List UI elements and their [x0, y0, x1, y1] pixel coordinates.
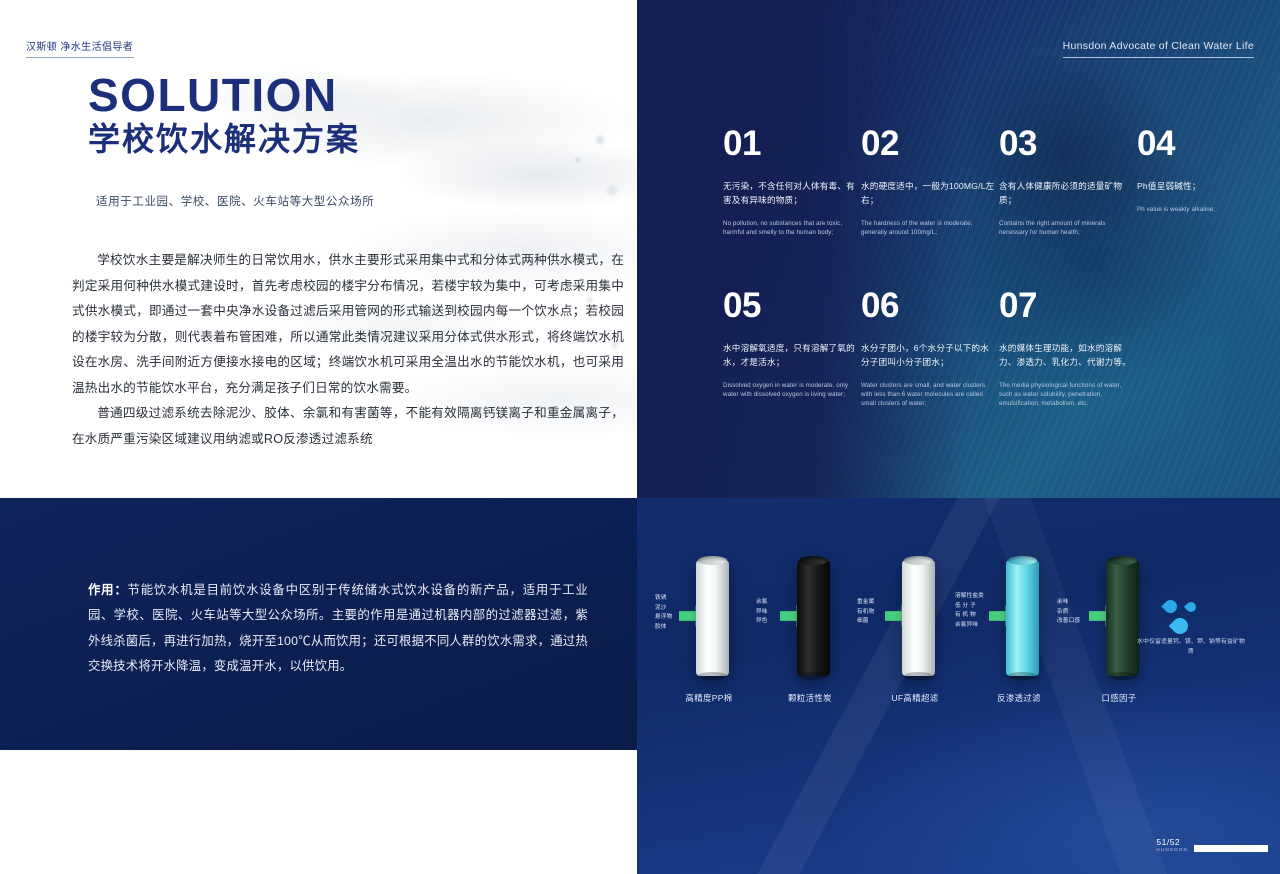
feature-number: 05	[723, 288, 858, 323]
footer-bar	[1194, 845, 1268, 852]
filter-cartridge-5	[1106, 560, 1139, 676]
stage-1-removes: 铁锈 泥沙 悬浮物 胶体	[655, 594, 677, 632]
feature-number: 06	[861, 288, 996, 323]
stage-2-removes: 余氯 异味 异色	[756, 598, 778, 627]
feature-number: 04	[1137, 126, 1272, 161]
navy-panel-label: 作用：	[88, 583, 128, 597]
filter-cartridge-2	[797, 560, 830, 676]
navy-panel-copy: 作用：节能饮水机是目前饮水设备中区别于传统储水式饮水设备的新产品，适用于工业园、…	[88, 578, 588, 680]
feature-text-cn: 无污染，不含任何对人体有毒、有害及有异味的物质；	[723, 180, 858, 208]
water-drop-icon	[1169, 615, 1192, 638]
feature-text-en: Dissolved oxygen in water is moderate, o…	[723, 381, 858, 400]
feature-text-cn: 水的媒体生理功能，如水的溶解力、渗透力、乳化力、代谢力等。	[999, 342, 1134, 370]
stage-4-label: 反渗透过滤	[974, 692, 1064, 704]
stage-5-label: 口感因子	[1074, 692, 1164, 704]
feature-item-04: 04 Ph值呈弱碱性； Ph value is weakly alkaline;	[1137, 126, 1272, 214]
feature-text-en: The hardness of the water is moderate, g…	[861, 219, 996, 238]
water-drop-icon	[1184, 600, 1198, 614]
feature-number: 07	[999, 288, 1134, 323]
water-drop-icon	[1161, 597, 1179, 615]
stage-4-removes: 溶解性盐类 低 分 子 有 机 物 余氯异味	[955, 592, 987, 630]
feature-text-en: Contains the right amount of minerals ne…	[999, 219, 1134, 238]
feature-text-cn: 水中溶解氧适度，只有溶解了氧的水，才是活水；	[723, 342, 858, 370]
page-subtitle: 适用于工业园、学校、医院、火车站等大型公众场所	[96, 193, 374, 209]
stage-3-removes: 重金属 有机物 细菌	[857, 598, 883, 627]
feature-text-en: No pollution, no substances that are tox…	[723, 219, 858, 238]
body-copy: 学校饮水主要是解决师生的日常饮用水，供水主要形式采用集中式和分体式两种供水模式，…	[72, 248, 624, 453]
bottom-left-white-strip	[0, 750, 637, 874]
feature-text-en: Ph value is weakly alkaline;	[1137, 205, 1272, 214]
features-grid: 01 无污染，不含任何对人体有毒、有害及有异味的物质； No pollution…	[637, 0, 1280, 498]
left-content-panel: 汉斯顿 净水生活倡导者 SOLUTION 学校饮水解决方案 适用于工业园、学校、…	[0, 0, 637, 498]
feature-item-06: 06 水分子团小，6个水分子以下的水分子团叫小分子团水； Water clust…	[861, 288, 996, 409]
stage-1-label: 高精度PP棉	[664, 692, 754, 704]
stage-3-label: UF高精超滤	[870, 692, 960, 704]
feature-text-en: Water clusters are small, and water clus…	[861, 381, 996, 409]
feature-number: 02	[861, 126, 996, 161]
feature-item-03: 03 含有人体健康所必须的适量矿物质； Contains the right a…	[999, 126, 1134, 237]
filter-diagram-panel: 铁锈 泥沙 悬浮物 胶体 高精度PP棉 余氯 异味 异色 颗粒活性炭 重金属 有…	[637, 498, 1280, 874]
page-number: 51/52	[1156, 837, 1188, 847]
feature-text-en: The media physiological functions of wat…	[999, 381, 1134, 409]
filter-cartridge-1	[696, 560, 729, 676]
stage-2-label: 颗粒活性炭	[765, 692, 855, 704]
slide-page: 汉斯顿 净水生活倡导者 SOLUTION 学校饮水解决方案 适用于工业园、学校、…	[0, 0, 1280, 874]
feature-text-cn: 含有人体健康所必须的适量矿物质；	[999, 180, 1134, 208]
page-title-chinese: 学校饮水解决方案	[88, 122, 360, 157]
body-paragraph-2: 普通四级过滤系统去除泥沙、胶体、余氯和有害菌等，不能有效隔离钙镁离子和重金属离子…	[72, 401, 624, 452]
brand-logo-text: 汉斯顿 净水生活倡导者	[26, 38, 134, 58]
filter-cartridge-3	[902, 560, 935, 676]
page-footer: 51/52 HUNSDON	[1156, 837, 1268, 852]
feature-text-cn: 水的硬度适中，一般为100MG/L左右；	[861, 180, 996, 208]
feature-item-02: 02 水的硬度适中，一般为100MG/L左右； The hardness of …	[861, 126, 996, 237]
stage-5-removes: 余味 杂质 改善口感	[1057, 598, 1087, 627]
body-paragraph-1: 学校饮水主要是解决师生的日常饮用水，供水主要形式采用集中式和分体式两种供水模式，…	[72, 248, 624, 401]
features-photo-panel: Hunsdon Advocate of Clean Water Life 01 …	[637, 0, 1280, 498]
filter-stage-row: 铁锈 泥沙 悬浮物 胶体 高精度PP棉 余氯 异味 异色 颗粒活性炭 重金属 有…	[637, 498, 1280, 874]
feature-text-cn: Ph值呈弱碱性；	[1137, 180, 1272, 194]
feature-item-01: 01 无污染，不含任何对人体有毒、有害及有异味的物质； No pollution…	[723, 126, 858, 237]
feature-number: 03	[999, 126, 1134, 161]
feature-item-05: 05 水中溶解氧适度，只有溶解了氧的水，才是活水； Dissolved oxyg…	[723, 288, 858, 399]
feature-text-cn: 水分子团小，6个水分子以下的水分子团叫小分子团水；	[861, 342, 996, 370]
filter-cartridge-4	[1006, 560, 1039, 676]
page-title-english: SOLUTION	[88, 72, 338, 118]
filter-output-note: 水中仅留适量钙、镁、钾、钠等有益矿物质	[1135, 637, 1247, 657]
navy-panel-text: 节能饮水机是目前饮水设备中区别于传统储水式饮水设备的新产品，适用于工业园、学校、…	[88, 583, 588, 673]
footer-brand: HUNSDON	[1156, 847, 1188, 852]
feature-item-07: 07 水的媒体生理功能，如水的溶解力、渗透力、乳化力、代谢力等。 The med…	[999, 288, 1134, 409]
feature-number: 01	[723, 126, 858, 161]
